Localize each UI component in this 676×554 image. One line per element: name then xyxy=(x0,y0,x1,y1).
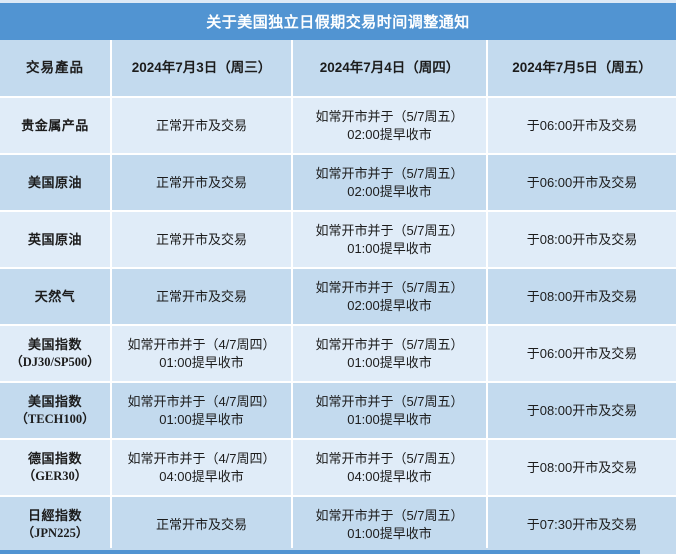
cell-day3: 于08:00开市及交易 xyxy=(487,382,676,439)
cell-day2: 如常开市并于（5/7周五） 01:00提早收市 xyxy=(292,211,487,268)
cell-day3: 于06:00开市及交易 xyxy=(487,325,676,382)
column-header-day1: 2024年7月3日（周三） xyxy=(111,40,292,97)
product-name: 美国指数 xyxy=(28,337,82,352)
cell-day3: 于08:00开市及交易 xyxy=(487,268,676,325)
notice-title-bar: 关于美国独立日假期交易时间调整通知 xyxy=(0,3,676,40)
cell-day3: 于06:00开市及交易 xyxy=(487,154,676,211)
cell-day2: 如常开市并于（5/7周五） 04:00提早收市 xyxy=(292,439,487,496)
trading-hours-table: 交易產品 2024年7月3日（周三） 2024年7月4日（周四） 2024年7月… xyxy=(0,40,676,554)
table-row: 美国指数（TECH100）如常开市并于（4/7周四） 01:00提早收市如常开市… xyxy=(0,382,676,439)
table-row: 美国指数（DJ30/SP500）如常开市并于（4/7周四） 01:00提早收市如… xyxy=(0,325,676,382)
product-code: （JPN225） xyxy=(3,525,107,542)
bottom-bar xyxy=(0,548,676,554)
product-name: 日經指数 xyxy=(28,508,82,523)
product-name: 美国指数 xyxy=(28,394,82,409)
product-name: 美国原油 xyxy=(28,175,82,190)
cell-product: 日經指数（JPN225） xyxy=(0,496,111,553)
holiday-trading-notice-card: 关于美国独立日假期交易时间调整通知 交易產品 2024年7月3日（周三） 202… xyxy=(0,0,676,554)
cell-day3: 于08:00开市及交易 xyxy=(487,439,676,496)
cell-day3: 于08:00开市及交易 xyxy=(487,211,676,268)
cell-day2: 如常开市并于（5/7周五） 02:00提早收市 xyxy=(292,97,487,154)
column-header-product: 交易產品 xyxy=(0,40,111,97)
cell-day1: 正常开市及交易 xyxy=(111,211,292,268)
bottom-bar-accent xyxy=(0,550,640,554)
product-name: 天然气 xyxy=(35,289,76,304)
cell-product: 德国指数（GER30） xyxy=(0,439,111,496)
cell-product: 美国原油 xyxy=(0,154,111,211)
product-name: 英国原油 xyxy=(28,232,82,247)
table-row: 美国原油正常开市及交易如常开市并于（5/7周五） 02:00提早收市于06:00… xyxy=(0,154,676,211)
table-row: 英国原油正常开市及交易如常开市并于（5/7周五） 01:00提早收市于08:00… xyxy=(0,211,676,268)
column-header-day2: 2024年7月4日（周四） xyxy=(292,40,487,97)
cell-day1: 如常开市并于（4/7周四） 01:00提早收市 xyxy=(111,325,292,382)
cell-day1: 正常开市及交易 xyxy=(111,154,292,211)
cell-day2: 如常开市并于（5/7周五） 01:00提早收市 xyxy=(292,382,487,439)
cell-day1: 正常开市及交易 xyxy=(111,97,292,154)
table-header-row: 交易產品 2024年7月3日（周三） 2024年7月4日（周四） 2024年7月… xyxy=(0,40,676,97)
product-name: 德国指数 xyxy=(28,451,82,466)
cell-day1: 正常开市及交易 xyxy=(111,496,292,553)
cell-product: 美国指数（TECH100） xyxy=(0,382,111,439)
cell-day1: 如常开市并于（4/7周四） 04:00提早收市 xyxy=(111,439,292,496)
table-row: 日經指数（JPN225）正常开市及交易如常开市并于（5/7周五） 01:00提早… xyxy=(0,496,676,553)
cell-product: 天然气 xyxy=(0,268,111,325)
product-code: （DJ30/SP500） xyxy=(3,354,107,371)
cell-day1: 正常开市及交易 xyxy=(111,268,292,325)
cell-day2: 如常开市并于（5/7周五） 01:00提早收市 xyxy=(292,325,487,382)
cell-day2: 如常开市并于（5/7周五） 02:00提早收市 xyxy=(292,154,487,211)
table-row: 德国指数（GER30）如常开市并于（4/7周四） 04:00提早收市如常开市并于… xyxy=(0,439,676,496)
page-title: 关于美国独立日假期交易时间调整通知 xyxy=(206,11,470,32)
product-code: （GER30） xyxy=(3,468,107,485)
cell-day2: 如常开市并于（5/7周五） 01:00提早收市 xyxy=(292,496,487,553)
product-code: （TECH100） xyxy=(3,411,107,428)
cell-day3: 于06:00开市及交易 xyxy=(487,97,676,154)
table-row: 天然气正常开市及交易如常开市并于（5/7周五） 02:00提早收市于08:00开… xyxy=(0,268,676,325)
column-header-day3: 2024年7月5日（周五） xyxy=(487,40,676,97)
cell-day2: 如常开市并于（5/7周五） 02:00提早收市 xyxy=(292,268,487,325)
cell-day3: 于07:30开市及交易 xyxy=(487,496,676,553)
cell-product: 美国指数（DJ30/SP500） xyxy=(0,325,111,382)
cell-product: 英国原油 xyxy=(0,211,111,268)
table-header: 交易產品 2024年7月3日（周三） 2024年7月4日（周四） 2024年7月… xyxy=(0,40,676,97)
cell-day1: 如常开市并于（4/7周四） 01:00提早收市 xyxy=(111,382,292,439)
product-name: 贵金属产品 xyxy=(21,118,89,133)
table-body: 贵金属产品正常开市及交易如常开市并于（5/7周五） 02:00提早收市于06:0… xyxy=(0,97,676,553)
table-row: 贵金属产品正常开市及交易如常开市并于（5/7周五） 02:00提早收市于06:0… xyxy=(0,97,676,154)
cell-product: 贵金属产品 xyxy=(0,97,111,154)
